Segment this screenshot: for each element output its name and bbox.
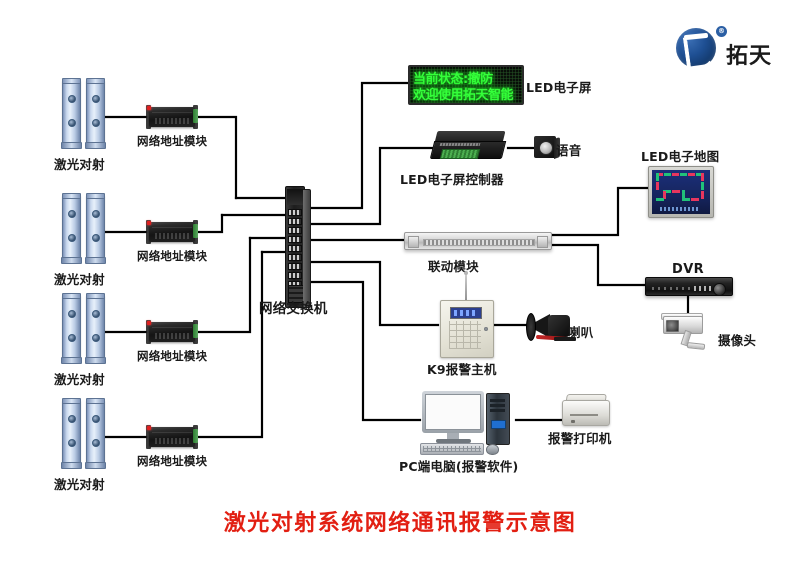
laser-lens-icon bbox=[92, 439, 100, 447]
dvr-jog-dial[interactable] bbox=[713, 283, 726, 296]
controller-terminal-block bbox=[440, 149, 480, 159]
paper-slot bbox=[570, 414, 598, 416]
camera-base bbox=[687, 342, 706, 350]
tower-panel bbox=[491, 420, 506, 429]
module-label-3: 网络地址模块 bbox=[137, 348, 207, 364]
led-controller-label: LED电子屏控制器 bbox=[400, 169, 504, 188]
laser-post-right bbox=[86, 400, 105, 466]
status-led-icon bbox=[147, 106, 151, 110]
diagram-title: 激光对射系统网络通讯报警示意图 bbox=[0, 505, 800, 537]
printer-label: 报警打印机 bbox=[548, 428, 612, 447]
laser-lens-icon bbox=[68, 119, 76, 127]
laser-post-left bbox=[62, 400, 81, 466]
k9-label: K9报警主机 bbox=[427, 359, 497, 378]
laser-post-right bbox=[86, 295, 105, 361]
rack-ear-left bbox=[408, 236, 419, 248]
laser-beam-detector-4[interactable] bbox=[56, 396, 112, 470]
laser-lens-icon bbox=[92, 415, 100, 423]
module-label-2: 网络地址模块 bbox=[137, 248, 207, 264]
laser-label-2: 激光对射 bbox=[54, 269, 105, 288]
laser-post-right bbox=[86, 80, 105, 146]
laser-post-left bbox=[62, 80, 81, 146]
laser-label-1: 激光对射 bbox=[54, 154, 105, 173]
led-map-screen bbox=[652, 170, 710, 214]
antenna-icon bbox=[465, 274, 467, 302]
switch-top-panel bbox=[287, 189, 303, 205]
laser-lens-icon bbox=[68, 210, 76, 218]
laser-lens-icon bbox=[68, 95, 76, 103]
linkage-chassis bbox=[404, 232, 552, 250]
switch-ports bbox=[288, 209, 302, 290]
terminal-block bbox=[193, 429, 198, 443]
laser-lens-icon bbox=[92, 95, 100, 103]
registered-mark: ® bbox=[716, 26, 727, 37]
tuotian-logo-icon bbox=[676, 28, 716, 68]
horn-mouth bbox=[526, 313, 536, 341]
monitor-screen bbox=[425, 394, 481, 430]
laser-label-4: 激光对射 bbox=[54, 474, 105, 493]
dvr-label: DVR bbox=[672, 262, 704, 277]
mouse[interactable] bbox=[486, 444, 499, 455]
laser-post-right bbox=[86, 195, 105, 261]
linkage-port-strip bbox=[423, 239, 535, 246]
laser-beam-detector-1[interactable] bbox=[56, 76, 112, 150]
laser-lens-icon bbox=[68, 310, 76, 318]
voice-label: 语音 bbox=[556, 140, 581, 159]
speaker-cone-icon bbox=[539, 141, 553, 155]
module-body bbox=[149, 107, 195, 127]
laser-lens-icon bbox=[92, 234, 100, 242]
laser-lens-icon bbox=[68, 234, 76, 242]
network-switch[interactable] bbox=[285, 186, 311, 306]
status-led-icon bbox=[147, 321, 151, 325]
laser-beam-detector-2[interactable] bbox=[56, 191, 112, 265]
pc-label: PC端电脑(报警软件) bbox=[399, 456, 518, 475]
horn-driver bbox=[548, 315, 570, 337]
led-display-screen[interactable]: 当前状态:撤防 欢迎使用拓天智能 bbox=[408, 65, 524, 105]
module-body bbox=[149, 222, 195, 242]
rack-ear-right bbox=[537, 236, 548, 248]
switch-face bbox=[285, 186, 305, 308]
security-camera[interactable] bbox=[663, 316, 719, 350]
laser-post-left bbox=[62, 295, 81, 361]
status-led-icon bbox=[147, 426, 151, 430]
camera-label: 摄像头 bbox=[718, 330, 756, 349]
camera-lens-icon bbox=[666, 320, 679, 332]
network-address-module-2[interactable] bbox=[146, 219, 198, 245]
diagram-canvas: ® 拓天 激光对射 激光对射 激光对射 bbox=[0, 0, 800, 579]
brand-name: 拓天 bbox=[726, 38, 772, 70]
led-map-caption bbox=[660, 207, 700, 211]
network-address-module-1[interactable] bbox=[146, 104, 198, 130]
terminal-block bbox=[193, 109, 198, 123]
module-body bbox=[149, 427, 195, 447]
laser-lens-icon bbox=[92, 310, 100, 318]
dvr-chassis bbox=[645, 277, 733, 296]
pc-workstation[interactable] bbox=[420, 391, 518, 453]
keyboard[interactable] bbox=[420, 443, 484, 455]
led-screen-line2: 欢迎使用拓天智能 bbox=[413, 84, 519, 103]
switch-chassis-side bbox=[303, 189, 311, 308]
dvr-recorder[interactable] bbox=[645, 277, 731, 297]
laser-post-left bbox=[62, 195, 81, 261]
laser-label-3: 激光对射 bbox=[54, 369, 105, 388]
monitor bbox=[422, 391, 484, 433]
printer-body bbox=[562, 400, 610, 426]
horn-label: 喇叭 bbox=[568, 322, 593, 341]
k9-indicator-icon bbox=[484, 327, 488, 331]
laser-lens-icon bbox=[68, 415, 76, 423]
k9-display bbox=[450, 307, 482, 319]
led-electronic-map[interactable] bbox=[648, 166, 714, 218]
module-label-1: 网络地址模块 bbox=[137, 133, 207, 149]
camera-body bbox=[663, 316, 703, 334]
led-screen-controller[interactable] bbox=[432, 131, 506, 161]
led-map-label: LED电子地图 bbox=[641, 146, 719, 165]
printer-button[interactable] bbox=[571, 420, 575, 423]
terminal-block bbox=[193, 224, 198, 238]
k9-case bbox=[440, 300, 494, 358]
alarm-printer[interactable] bbox=[562, 394, 608, 426]
pc-tower bbox=[486, 393, 510, 445]
laser-lens-icon bbox=[68, 439, 76, 447]
network-address-module-3[interactable] bbox=[146, 319, 198, 345]
linkage-module[interactable] bbox=[404, 232, 550, 252]
network-address-module-4[interactable] bbox=[146, 424, 198, 450]
laser-lens-icon bbox=[68, 334, 76, 342]
status-led-icon bbox=[147, 221, 151, 225]
network-switch-label: 网络交换机 bbox=[259, 297, 328, 317]
k9-keypad[interactable] bbox=[449, 321, 481, 349]
led-screen-label: LED电子屏 bbox=[526, 77, 592, 96]
k9-alarm-host[interactable] bbox=[440, 300, 492, 360]
laser-lens-icon bbox=[92, 210, 100, 218]
linkage-module-label: 联动模块 bbox=[428, 256, 479, 275]
module-body bbox=[149, 322, 195, 342]
laser-lens-icon bbox=[92, 119, 100, 127]
laser-beam-detector-3[interactable] bbox=[56, 291, 112, 365]
terminal-block bbox=[193, 324, 198, 338]
laser-lens-icon bbox=[92, 334, 100, 342]
brand-logo: ® 拓天 bbox=[676, 28, 786, 72]
module-label-4: 网络地址模块 bbox=[137, 453, 207, 469]
controller-vents bbox=[440, 143, 481, 146]
dvr-brand-strip bbox=[652, 287, 692, 290]
